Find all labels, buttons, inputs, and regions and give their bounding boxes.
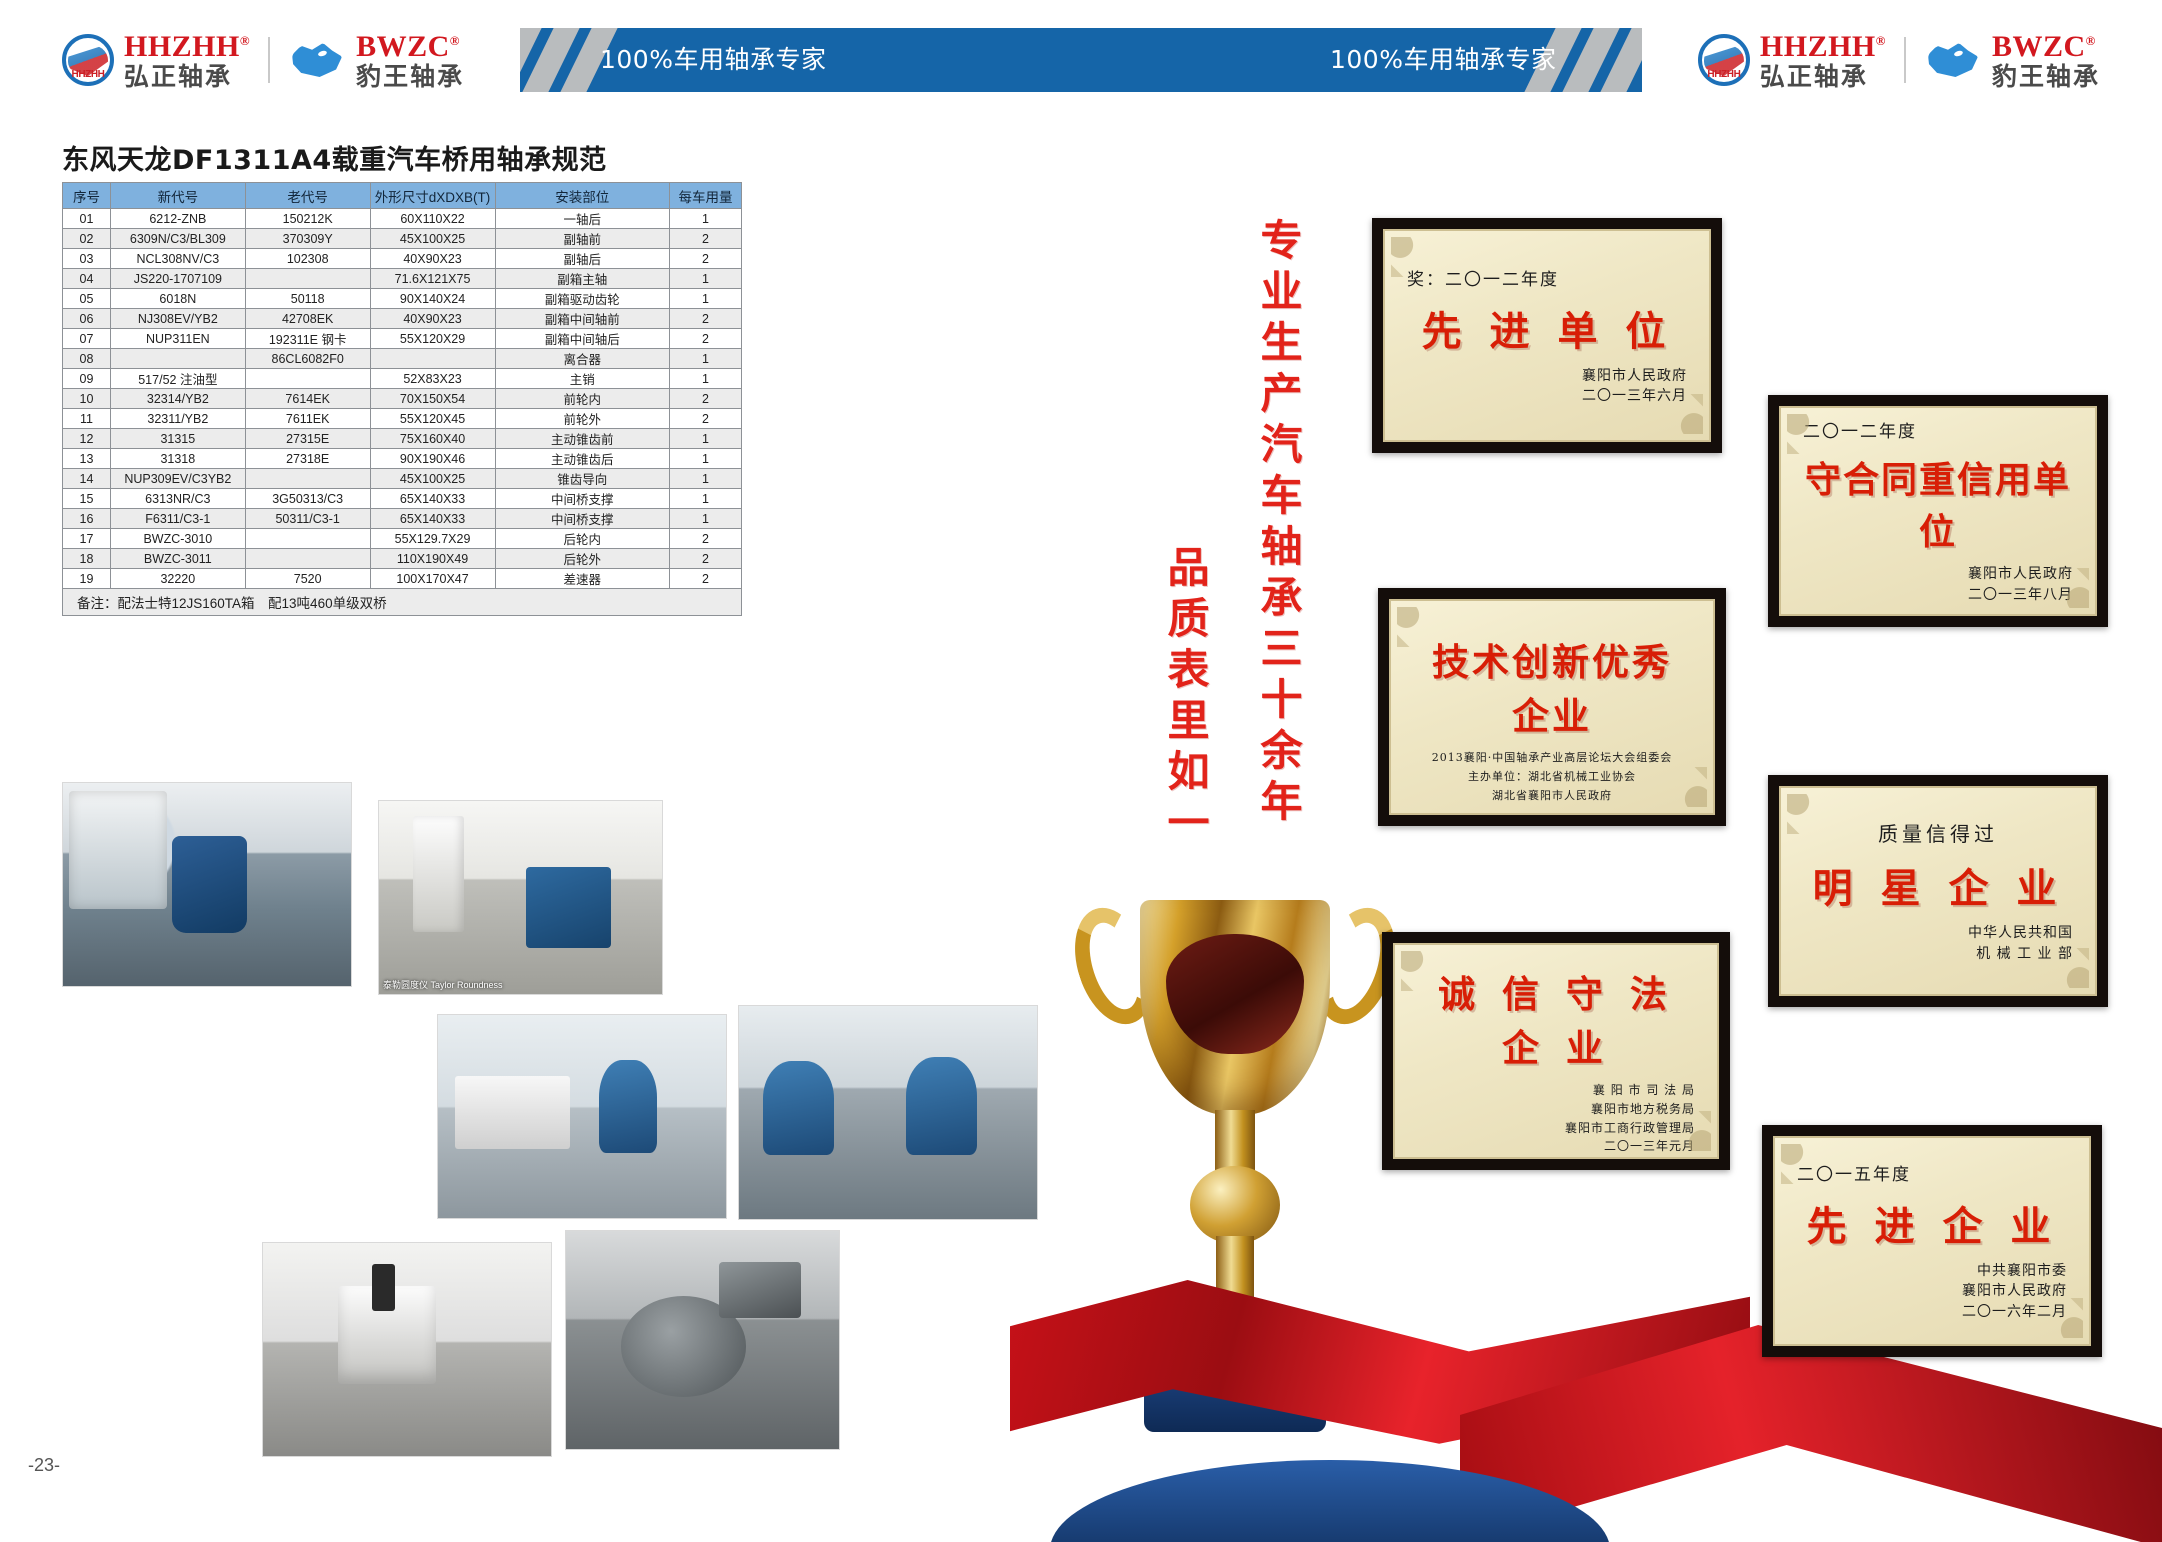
cell-position: 一轴后 [495, 209, 670, 229]
award-footer-line: 襄阳市地方税务局 [1417, 1100, 1695, 1119]
award-footer-line: 中华人民共和国 [1803, 923, 2073, 943]
cell-position: 前轮外 [495, 409, 670, 429]
award-footer-line: 机 械 工 业 部 [1803, 944, 2073, 964]
cell-seq: 06 [63, 309, 111, 329]
hhzhh-emblem-text: HHZHH [62, 69, 114, 80]
cell-position: 后轮外 [495, 549, 670, 569]
bearing-spec-table: 序号 新代号 老代号 外形尺寸dXDXB(T) 安装部位 每车用量 016212… [62, 182, 742, 616]
panther-head-icon [288, 37, 346, 83]
award-footer-line: 襄阳市工商行政管理局 [1417, 1119, 1695, 1138]
cell-seq: 03 [63, 249, 111, 269]
cell-qty: 2 [670, 309, 742, 329]
award-footer-line: 襄阳市人民政府 [1407, 366, 1687, 386]
photo-roundness-tester: 泰勒圆度仪 Taylor Roundness [378, 800, 663, 995]
cell-qty: 1 [670, 369, 742, 389]
cell-new-code: 6313NR/C3 [110, 489, 245, 509]
cell-new-code: 6018N [110, 289, 245, 309]
cell-old-code: 7614EK [245, 389, 370, 409]
photo-assembly-line [738, 1005, 1038, 1220]
award-main-text: 守合同重信用单位 [1803, 451, 2073, 555]
table-row: 06NJ308EV/YB242708EK40X90X23副箱中间轴前2 [63, 309, 742, 329]
brochure-page: 100%车用轴承专家 100%车用轴承专家 HHZHH HHZHH® 弘正轴承 [0, 0, 2162, 1542]
photo-office-inspection [437, 1014, 727, 1219]
cell-dimension: 90X140X24 [370, 289, 495, 309]
cell-old-code: 3G50313/C3 [245, 489, 370, 509]
cell-new-code: 31315 [110, 429, 245, 449]
cell-qty: 2 [670, 229, 742, 249]
award-footer: 2013襄阳·中国轴承产业高层论坛大会组委会 主办单位：湖北省机械工业协会 湖北… [1413, 749, 1691, 805]
cell-new-code: NJ308EV/YB2 [110, 309, 245, 329]
cell-qty: 2 [670, 549, 742, 569]
table-row: 04JS220-170710971.6X121X75副箱主轴1 [63, 269, 742, 289]
cell-position: 中间桥支撑 [495, 509, 670, 529]
logo-bwzc-cn-2: 豹王轴承 [1992, 64, 2100, 89]
cell-seq: 01 [63, 209, 111, 229]
table-row: 056018N5011890X140X24副箱驱动齿轮1 [63, 289, 742, 309]
award-footer: 襄阳市人民政府 二〇一三年六月 [1407, 366, 1687, 407]
cell-dimension: 45X100X25 [370, 469, 495, 489]
photo-bearing-parts [565, 1230, 840, 1450]
cell-qty: 1 [670, 289, 742, 309]
award-footer-line: 主办单位：湖北省机械工业协会 [1413, 768, 1691, 787]
cell-old-code: 50311/C3-1 [245, 509, 370, 529]
cell-seq: 17 [63, 529, 111, 549]
cell-new-code: 31318 [110, 449, 245, 469]
cell-position: 副轴前 [495, 229, 670, 249]
table-row: 016212-ZNB150212K60X110X22一轴后1 [63, 209, 742, 229]
cell-old-code: 86CL6082F0 [245, 349, 370, 369]
logo-group-right: HHZHH HHZHH® 弘正轴承 BWZC® 豹王轴承 [1698, 28, 2100, 92]
logo-hhzhh-2: HHZHH HHZHH® 弘正轴承 [1698, 32, 1886, 89]
cell-seq: 09 [63, 369, 111, 389]
table-row: 0886CL6082F0离合器1 [63, 349, 742, 369]
logo-group-left: HHZHH HHZHH® 弘正轴承 BWZC® 豹王轴承 [62, 28, 464, 92]
cell-new-code: F6311/C3-1 [110, 509, 245, 529]
cell-new-code: 517/52 注油型 [110, 369, 245, 389]
cell-old-code: 7520 [245, 569, 370, 589]
cell-new-code: BWZC-3011 [110, 549, 245, 569]
table-row: 18BWZC-3011110X190X49后轮外2 [63, 549, 742, 569]
cell-qty: 1 [670, 269, 742, 289]
cell-position: 离合器 [495, 349, 670, 369]
cell-dimension: 55X120X45 [370, 409, 495, 429]
cell-old-code [245, 529, 370, 549]
table-row: 1132311/YB27611EK55X120X45前轮外2 [63, 409, 742, 429]
cell-new-code: NCL308NV/C3 [110, 249, 245, 269]
hhzhh-emblem-text: HHZHH [1698, 69, 1750, 80]
award-footer-line: 2013襄阳·中国轴承产业高层论坛大会组委会 [1413, 749, 1691, 768]
award-main-text: 明 星 企 业 [1803, 856, 2073, 914]
cell-position: 前轮内 [495, 389, 670, 409]
award-footer: 襄 阳 市 司 法 局 襄阳市地方税务局 襄阳市工商行政管理局 二〇一三年元月 [1417, 1081, 1695, 1155]
cell-seq: 15 [63, 489, 111, 509]
cell-new-code: NUP311EN [110, 329, 245, 349]
cell-qty: 1 [670, 449, 742, 469]
award-footer-line: 二〇一三年元月 [1417, 1137, 1695, 1156]
cell-dimension: 60X110X22 [370, 209, 495, 229]
cell-qty: 2 [670, 569, 742, 589]
logo-hhzhh-cn: 弘正轴承 [124, 64, 250, 89]
table-note-row: 备注：配法士特12JS160TA箱 配13吨460单级双桥 [63, 589, 742, 616]
table-row: 03NCL308NV/C310230840X90X23副轴后2 [63, 249, 742, 269]
award-plaque-quality-star: 质量信得过 明 星 企 业 中华人民共和国 机 械 工 业 部 [1768, 775, 2108, 1007]
cell-qty: 2 [670, 389, 742, 409]
cell-dimension: 65X140X33 [370, 489, 495, 509]
cell-position: 副箱中间轴后 [495, 329, 670, 349]
cell-qty: 2 [670, 529, 742, 549]
award-top-text: 质量信得过 [1803, 818, 2073, 847]
cell-dimension: 40X90X23 [370, 249, 495, 269]
spec-table-title: 东风天龙DF1311A4载重汽车桥用轴承规范 [62, 138, 607, 177]
cell-position: 差速器 [495, 569, 670, 589]
table-row: 1032314/YB27614EK70X150X54前轮内2 [63, 389, 742, 409]
cell-seq: 12 [63, 429, 111, 449]
award-footer-line: 二〇一六年二月 [1797, 1302, 2067, 1322]
cell-dimension: 55X120X29 [370, 329, 495, 349]
cell-seq: 02 [63, 229, 111, 249]
award-footer-line: 二〇一三年六月 [1407, 386, 1687, 406]
cell-position: 副轴后 [495, 249, 670, 269]
photo-caption-roundness: 泰勒圆度仪 Taylor Roundness [383, 978, 503, 991]
logo-hhzhh-en: HHZHH® [124, 32, 250, 62]
cell-seq: 07 [63, 329, 111, 349]
cell-new-code: BWZC-3010 [110, 529, 245, 549]
cell-old-code [245, 269, 370, 289]
cell-dimension: 90X190X46 [370, 449, 495, 469]
award-main-text: 先 进 单 位 [1407, 299, 1687, 357]
col-header-old-code: 老代号 [245, 183, 370, 209]
logo-divider [1904, 37, 1906, 83]
cell-seq: 16 [63, 509, 111, 529]
table-row: 16F6311/C3-150311/C3-165X140X33中间桥支撑1 [63, 509, 742, 529]
col-header-position: 安装部位 [495, 183, 670, 209]
logo-divider [268, 37, 270, 83]
col-header-seq: 序号 [63, 183, 111, 209]
page-number: -23- [28, 1455, 60, 1476]
table-row: 07NUP311EN192311E 钢卡55X120X29副箱中间轴后2 [63, 329, 742, 349]
cell-dimension: 45X100X25 [370, 229, 495, 249]
cell-new-code: 6309N/C3/BL309 [110, 229, 245, 249]
cell-seq: 11 [63, 409, 111, 429]
cell-qty: 2 [670, 329, 742, 349]
award-plaque-advanced-unit: 奖：二〇一二年度 先 进 单 位 襄阳市人民政府 二〇一三年六月 [1372, 218, 1722, 453]
cell-qty: 2 [670, 409, 742, 429]
slogan-quality: 品质表里如一 [1155, 545, 1216, 851]
cell-new-code [110, 349, 245, 369]
award-footer-line: 二〇一三年八月 [1803, 585, 2073, 605]
table-row: 14NUP309EV/C3YB245X100X25锥齿导向1 [63, 469, 742, 489]
award-top-text: 二〇一二年度 [1803, 417, 2073, 442]
cell-old-code: 192311E 钢卡 [245, 329, 370, 349]
photo-cnc-machining [62, 782, 352, 987]
table-row: 156313NR/C33G50313/C365X140X33中间桥支撑1 [63, 489, 742, 509]
panther-head-icon [1924, 37, 1982, 83]
cell-seq: 14 [63, 469, 111, 489]
cell-new-code: NUP309EV/C3YB2 [110, 469, 245, 489]
cell-position: 副箱中间轴前 [495, 309, 670, 329]
hhzhh-emblem-icon: HHZHH [1698, 34, 1750, 86]
cell-qty: 2 [670, 249, 742, 269]
col-header-dimension: 外形尺寸dXDXB(T) [370, 183, 495, 209]
cell-position: 副箱驱动齿轮 [495, 289, 670, 309]
cell-new-code: JS220-1707109 [110, 269, 245, 289]
award-footer-line: 襄阳市人民政府 [1797, 1281, 2067, 1301]
page-header: 100%车用轴承专家 100%车用轴承专家 HHZHH HHZHH® 弘正轴承 [0, 28, 2162, 92]
cell-new-code: 32314/YB2 [110, 389, 245, 409]
cell-qty: 1 [670, 429, 742, 449]
cell-seq: 19 [63, 569, 111, 589]
table-row: 19322207520100X170X47差速器2 [63, 569, 742, 589]
cell-dimension [370, 349, 495, 369]
cell-new-code: 32220 [110, 569, 245, 589]
logo-bwzc-en-2: BWZC® [1992, 32, 2096, 62]
award-plaque-tech-innovation: 技术创新优秀企业 2013襄阳·中国轴承产业高层论坛大会组委会 主办单位：湖北省… [1378, 588, 1726, 826]
award-plaque-honest-lawful: 诚 信 守 法 企 业 襄 阳 市 司 法 局 襄阳市地方税务局 襄阳市工商行政… [1382, 932, 1730, 1170]
cell-dimension: 40X90X23 [370, 309, 495, 329]
cell-qty: 1 [670, 489, 742, 509]
award-top-text: 二〇一五年度 [1797, 1160, 2067, 1185]
logo-bwzc: BWZC® 豹王轴承 [288, 32, 464, 89]
award-footer-line: 湖北省襄阳市人民政府 [1413, 787, 1691, 806]
cell-dimension: 52X83X23 [370, 369, 495, 389]
cell-qty: 1 [670, 349, 742, 369]
cell-dimension: 71.6X121X75 [370, 269, 495, 289]
cell-seq: 08 [63, 349, 111, 369]
cell-position: 主动锥齿后 [495, 449, 670, 469]
cell-old-code [245, 469, 370, 489]
table-header-row: 序号 新代号 老代号 外形尺寸dXDXB(T) 安装部位 每车用量 [63, 183, 742, 209]
award-footer-line: 襄阳市人民政府 [1803, 564, 2073, 584]
cell-dimension: 110X190X49 [370, 549, 495, 569]
cell-old-code [245, 369, 370, 389]
cell-seq: 04 [63, 269, 111, 289]
cell-position: 主销 [495, 369, 670, 389]
logo-hhzhh: HHZHH HHZHH® 弘正轴承 [62, 32, 250, 89]
award-footer-line: 襄 阳 市 司 法 局 [1417, 1081, 1695, 1100]
cell-position: 主动锥齿前 [495, 429, 670, 449]
award-footer-line: 中共襄阳市委 [1797, 1261, 2067, 1281]
logo-bwzc-2: BWZC® 豹王轴承 [1924, 32, 2100, 89]
cell-qty: 1 [670, 509, 742, 529]
cell-dimension: 100X170X47 [370, 569, 495, 589]
cell-old-code [245, 549, 370, 569]
slogan-production-years: 专业生产汽车轴承三十余年 [1248, 218, 1309, 830]
award-main-text: 先 进 企 业 [1797, 1194, 2067, 1252]
cell-position: 副箱主轴 [495, 269, 670, 289]
cell-old-code: 27315E [245, 429, 370, 449]
cell-qty: 1 [670, 209, 742, 229]
award-footer: 中共襄阳市委 襄阳市人民政府 二〇一六年二月 [1797, 1261, 2067, 1322]
logo-hhzhh-en-2: HHZHH® [1760, 32, 1886, 62]
cell-old-code: 150212K [245, 209, 370, 229]
logo-bwzc-en: BWZC® [356, 32, 460, 62]
cell-qty: 1 [670, 469, 742, 489]
award-footer: 襄阳市人民政府 二〇一三年八月 [1803, 564, 2073, 605]
cell-position: 中间桥支撑 [495, 489, 670, 509]
cell-new-code: 6212-ZNB [110, 209, 245, 229]
col-header-qty: 每车用量 [670, 183, 742, 209]
award-footer: 中华人民共和国 机 械 工 业 部 [1803, 923, 2073, 964]
award-plaque-advanced-enterprise: 二〇一五年度 先 进 企 业 中共襄阳市委 襄阳市人民政府 二〇一六年二月 [1762, 1125, 2102, 1357]
hhzhh-emblem-icon: HHZHH [62, 34, 114, 86]
cell-seq: 18 [63, 549, 111, 569]
cell-dimension: 55X129.7X29 [370, 529, 495, 549]
award-top-text: 奖：二〇一二年度 [1407, 265, 1687, 290]
cell-dimension: 70X150X54 [370, 389, 495, 409]
cell-seq: 10 [63, 389, 111, 409]
cell-seq: 13 [63, 449, 111, 469]
cell-old-code: 42708EK [245, 309, 370, 329]
cell-position: 后轮内 [495, 529, 670, 549]
cell-dimension: 65X140X33 [370, 509, 495, 529]
logo-hhzhh-cn-2: 弘正轴承 [1760, 64, 1886, 89]
award-main-text: 技术创新优秀企业 [1413, 632, 1691, 740]
cell-old-code: 370309Y [245, 229, 370, 249]
photo-measuring-machine [262, 1242, 552, 1457]
table-row: 123131527315E75X160X40主动锥齿前1 [63, 429, 742, 449]
table-row: 133131827318E90X190X46主动锥齿后1 [63, 449, 742, 469]
cell-old-code: 50118 [245, 289, 370, 309]
header-slogan-left: 100%车用轴承专家 [600, 28, 826, 92]
cell-dimension: 75X160X40 [370, 429, 495, 449]
cell-position: 锥齿导向 [495, 469, 670, 489]
cell-seq: 05 [63, 289, 111, 309]
table-row: 17BWZC-301055X129.7X29后轮内2 [63, 529, 742, 549]
cell-new-code: 32311/YB2 [110, 409, 245, 429]
table-row: 09517/52 注油型52X83X23主销1 [63, 369, 742, 389]
table-note: 备注：配法士特12JS160TA箱 配13吨460单级双桥 [63, 589, 742, 616]
cell-old-code: 27318E [245, 449, 370, 469]
header-slogan-right: 100%车用轴承专家 [1330, 28, 1556, 92]
award-plaque-contract-credit: 二〇一二年度 守合同重信用单位 襄阳市人民政府 二〇一三年八月 [1768, 395, 2108, 627]
table-row: 026309N/C3/BL309370309Y45X100X25副轴前2 [63, 229, 742, 249]
cell-old-code: 7611EK [245, 409, 370, 429]
cell-old-code: 102308 [245, 249, 370, 269]
logo-bwzc-cn: 豹王轴承 [356, 64, 464, 89]
award-main-text: 诚 信 守 法 企 业 [1417, 964, 1695, 1072]
col-header-new-code: 新代号 [110, 183, 245, 209]
